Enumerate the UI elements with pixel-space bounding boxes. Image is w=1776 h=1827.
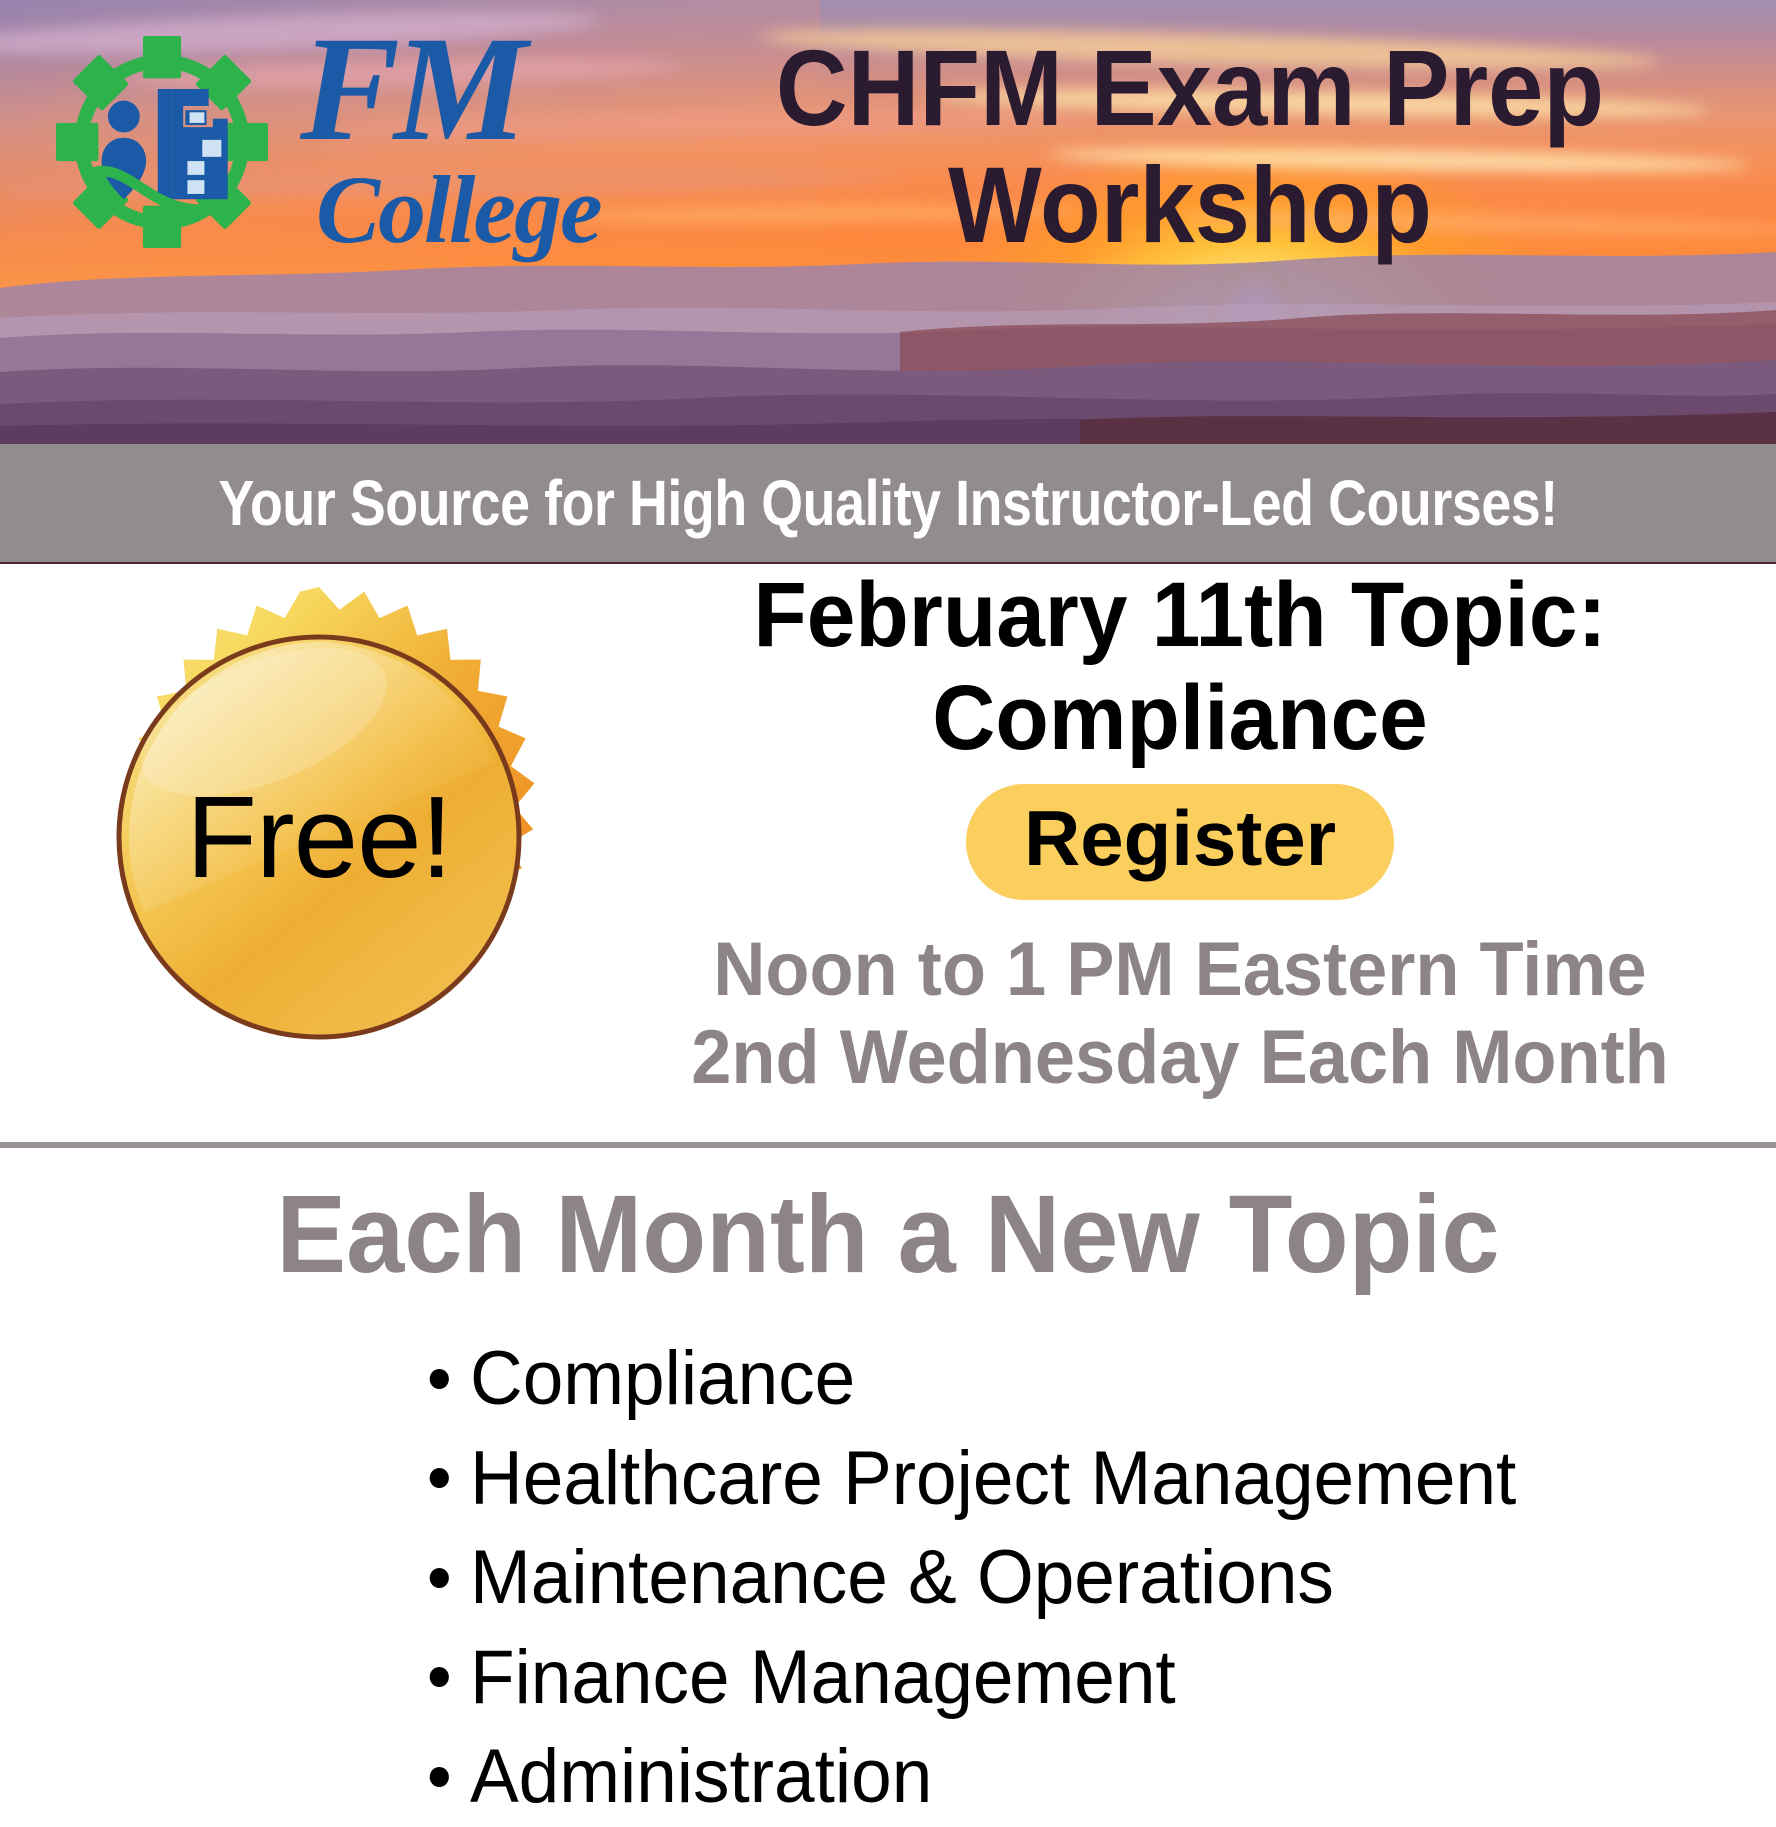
schedule-recurrence: 2nd Wednesday Each Month	[639, 1014, 1722, 1102]
brand-wordmark: FM College	[288, 12, 588, 282]
free-badge-label: Free!	[64, 582, 574, 1092]
tagline-bar: Your Source for High Quality Instructor-…	[0, 444, 1776, 564]
list-item: Healthcare Project Management	[470, 1429, 1724, 1529]
register-button[interactable]: Register	[966, 784, 1394, 900]
hero-banner: FM College CHFM Exam Prep Workshop	[0, 0, 1776, 444]
brand-name-secondary: College	[316, 162, 601, 258]
topic-name-line: Compliance	[639, 667, 1722, 770]
brand-logo[interactable]: FM College	[48, 14, 588, 294]
offer-details: February 11th Topic: Compliance Register…	[610, 564, 1750, 1102]
gear-building-person-icon	[56, 36, 268, 248]
offer-section: Free! February 11th Topic: Compliance Re…	[0, 564, 1776, 1142]
list-item: Compliance	[470, 1329, 1724, 1429]
page-title-line2: Workshop	[684, 147, 1696, 264]
topics-list: Compliance Healthcare Project Management…	[0, 1329, 1776, 1827]
topics-heading: Each Month a New Topic	[44, 1174, 1731, 1295]
brand-name-primary: FM	[300, 14, 521, 164]
page-title-line1: CHFM Exam Prep	[684, 30, 1696, 147]
schedule-info: Noon to 1 PM Eastern Time 2nd Wednesday …	[639, 926, 1722, 1102]
page-title: CHFM Exam Prep Workshop	[684, 30, 1696, 263]
free-badge: Free!	[64, 582, 574, 1092]
list-item: Administration	[470, 1727, 1724, 1827]
tagline-text: Your Source for High Quality Instructor-…	[218, 466, 1557, 540]
topic-date-line: February 11th Topic:	[639, 564, 1722, 667]
topics-section: Each Month a New Topic Compliance Health…	[0, 1148, 1776, 1827]
list-item: Maintenance & Operations	[470, 1528, 1724, 1628]
schedule-time: Noon to 1 PM Eastern Time	[639, 926, 1722, 1014]
list-item: Finance Management	[470, 1628, 1724, 1728]
